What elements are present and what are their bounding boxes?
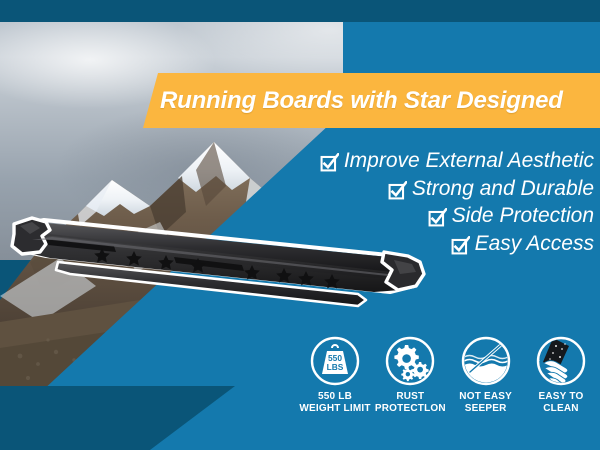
- feature-label-line1: RUST: [396, 391, 424, 402]
- running-board-product-image: [6, 212, 426, 317]
- bullet-item: Easy Access: [451, 233, 594, 256]
- weight-badge-bottom: LBS: [327, 362, 344, 372]
- feature-label: 550 LB WEIGHT LIMIT: [299, 391, 370, 415]
- checkbox-checked-icon: [388, 181, 407, 200]
- bullet-label: Improve External Aesthetic: [344, 150, 594, 173]
- bullet-item: Strong and Durable: [388, 178, 594, 201]
- product-banner-image: Running Boards with Star Designed Improv…: [0, 0, 600, 450]
- feature-icon-row: 550 LBS 550 LB WEIGHT LIMIT: [300, 336, 596, 436]
- feature-label-line1: NOT EASY: [459, 391, 512, 402]
- feature-label-line2: SEEPER: [465, 403, 507, 414]
- top-bar: [0, 0, 600, 22]
- feature-label: RUST PROTECTLON: [375, 391, 446, 415]
- checkbox-checked-icon: [320, 153, 339, 172]
- hand-cleaning-icon: [536, 336, 586, 386]
- weight-limit-icon: 550 LBS: [310, 336, 360, 386]
- feature-label-line2: PROTECTLON: [375, 403, 446, 414]
- checkbox-checked-icon: [451, 236, 470, 255]
- bullet-item: Improve External Aesthetic: [320, 150, 594, 173]
- feature-not-easy-seeper: NOT EASY SEEPER: [451, 336, 521, 415]
- gears-icon: [385, 336, 435, 386]
- feature-label-line1: EASY TO: [539, 391, 584, 402]
- checkbox-checked-icon: [428, 208, 447, 227]
- feature-label-line2: WEIGHT LIMIT: [299, 403, 370, 414]
- feature-label-line2: CLEAN: [543, 403, 578, 414]
- feature-label: EASY TO CLEAN: [539, 391, 584, 415]
- feature-weight-limit: 550 LBS 550 LB WEIGHT LIMIT: [300, 336, 370, 415]
- feature-easy-to-clean: EASY TO CLEAN: [526, 336, 596, 415]
- feature-label-line1: 550 LB: [318, 391, 352, 402]
- feature-rust-protection: RUST PROTECTLON: [375, 336, 445, 415]
- water-no-seep-icon: [461, 336, 511, 386]
- bullet-label: Side Protection: [452, 205, 594, 228]
- bullet-item: Side Protection: [428, 205, 594, 228]
- feature-label: NOT EASY SEEPER: [459, 391, 512, 415]
- bullet-label: Easy Access: [475, 233, 594, 256]
- bullet-label: Strong and Durable: [412, 178, 594, 201]
- page-title: Running Boards with Star Designed: [160, 78, 600, 124]
